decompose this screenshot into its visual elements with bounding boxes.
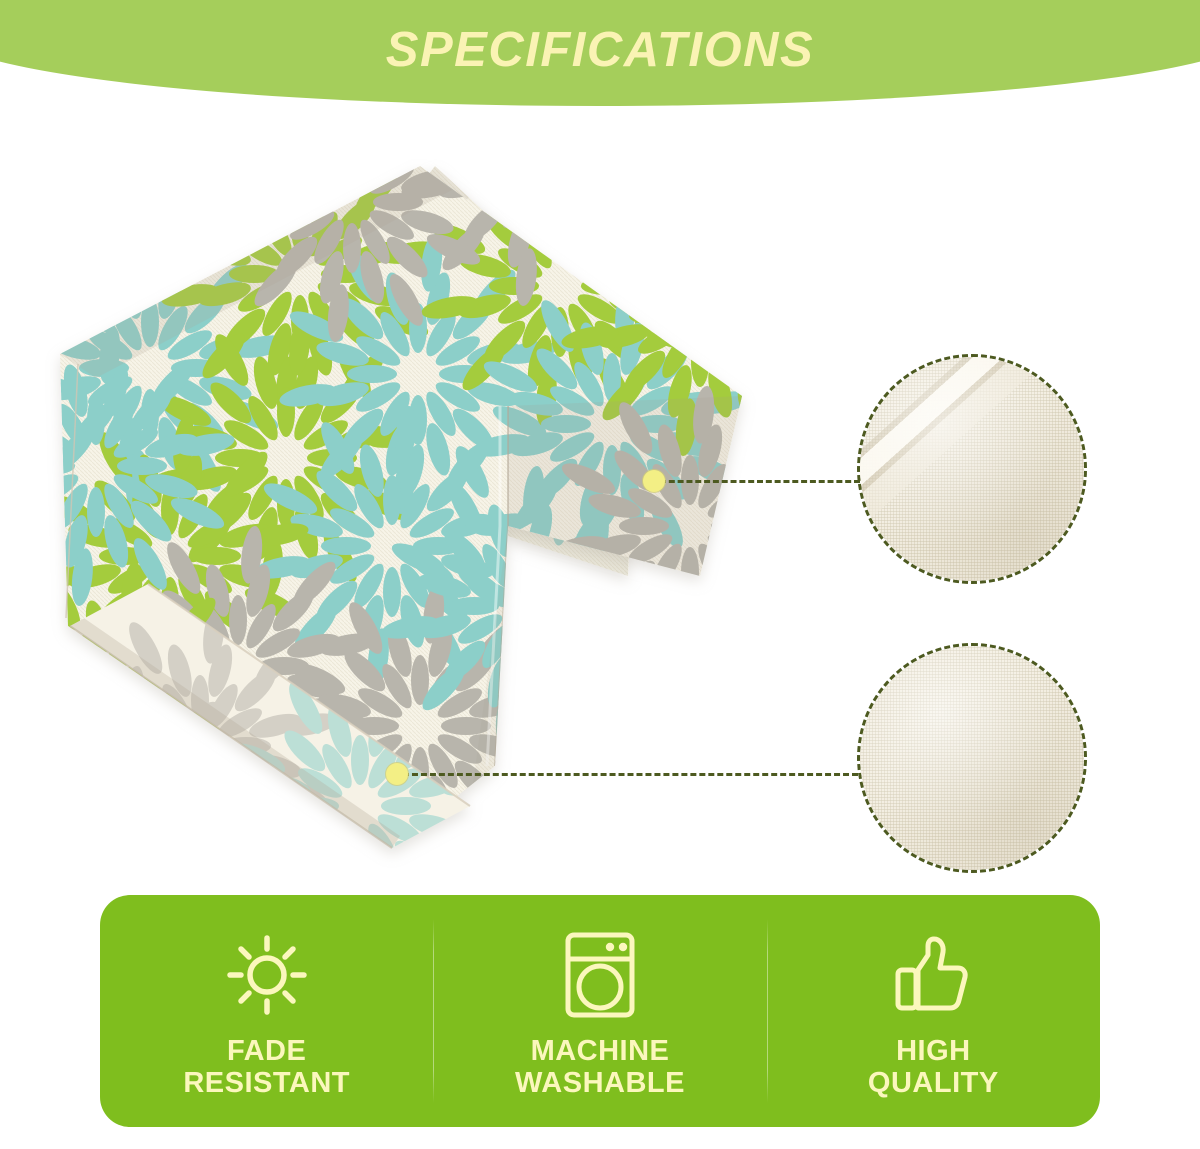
callout-marker-weave [386, 763, 408, 785]
feature-label-line2: RESISTANT [183, 1067, 350, 1099]
product-image-area [0, 106, 1200, 886]
page-title: SPECIFICATIONS [0, 26, 1200, 75]
thumbs-up-icon [888, 929, 978, 1021]
feature-label-high-quality: HIGH QUALITY [868, 1035, 999, 1100]
detail-circle-hem [857, 354, 1087, 584]
feature-fade-resistant: FADE RESISTANT [100, 895, 433, 1127]
feature-label-line2: WASHABLE [515, 1067, 685, 1099]
feature-label-line2: QUALITY [868, 1067, 999, 1099]
header-banner: SPECIFICATIONS [0, 0, 1200, 106]
callout-marker-hem [643, 470, 665, 492]
weave-shading [860, 646, 1084, 870]
feature-machine-washable: MACHINE WASHABLE [433, 895, 766, 1127]
detail-circle-weave [857, 643, 1087, 873]
hem-shading [860, 357, 1084, 581]
leader-line-hem [660, 480, 860, 483]
feature-panel: FADE RESISTANT MACHINE WASHABLE [100, 895, 1100, 1127]
feature-label-fade-resistant: FADE RESISTANT [183, 1035, 350, 1100]
leader-line-weave [403, 773, 858, 776]
towel-front-panel [0, 106, 853, 886]
feature-label-line1: MACHINE [515, 1035, 685, 1067]
washing-machine-icon [560, 929, 640, 1021]
feature-label-machine-washable: MACHINE WASHABLE [515, 1035, 685, 1100]
feature-label-line1: HIGH [868, 1035, 999, 1067]
sun-icon [224, 929, 310, 1021]
feature-label-line1: FADE [183, 1035, 350, 1067]
feature-high-quality: HIGH QUALITY [767, 895, 1100, 1127]
